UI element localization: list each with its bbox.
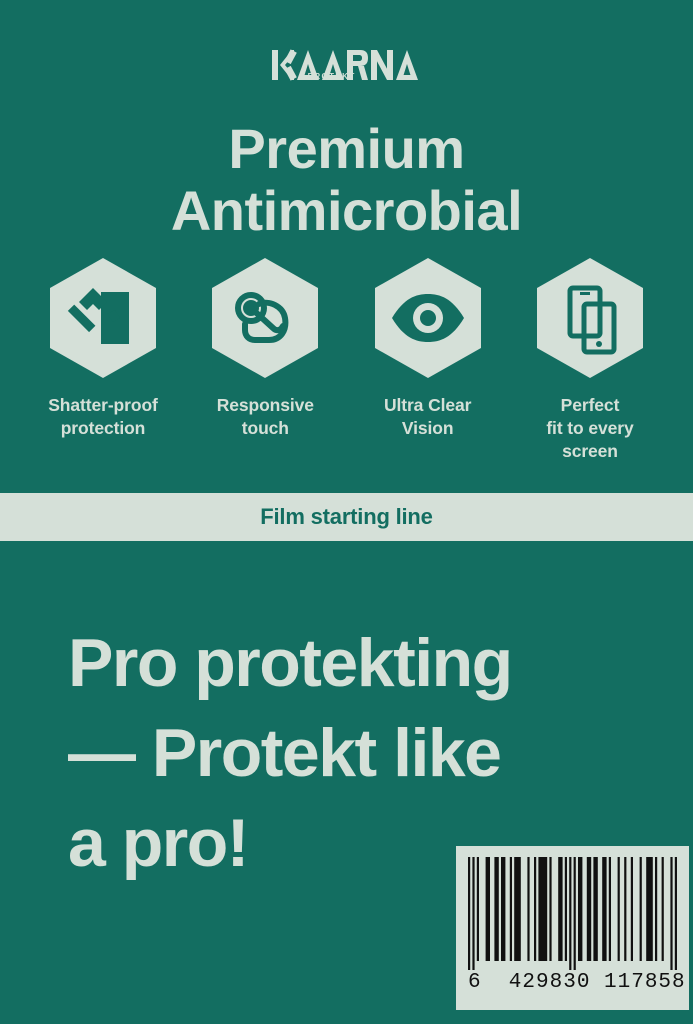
feature-item-ultra-clear-vision: Ultra Clear Vision: [353, 256, 503, 440]
brand-logo: PROTEKT: [0, 44, 693, 96]
film-starting-line-band: Film starting line: [0, 493, 693, 541]
feature-item-responsive-touch: Responsive touch: [190, 256, 340, 440]
feature-label-ultra-clear-vision: Ultra Clear Vision: [352, 394, 504, 440]
touch-hand-icon: [203, 256, 327, 380]
feature-label-line-2: fit to every: [546, 418, 633, 438]
hexagon-badge: [41, 256, 165, 380]
hexagon-badge: [203, 256, 327, 380]
feature-label-perfect-fit: Perfect fit to every screen: [514, 394, 666, 463]
kaarna-logo-mark: PROTEKT: [266, 46, 427, 94]
feature-label-line-3: screen: [562, 441, 618, 461]
feature-item-shatter-proof: Shatter-proof protection: [28, 256, 178, 440]
feature-label-line-1: Ultra Clear: [384, 395, 471, 415]
barcode-number: 6 429830 117858 >: [468, 971, 677, 994]
hammer-phone-icon: [41, 256, 165, 380]
eye-icon: [366, 256, 490, 380]
hexagon-badge: [366, 256, 490, 380]
heading-line-1: Premium: [0, 118, 693, 180]
feature-label-responsive-touch: Responsive touch: [189, 394, 341, 440]
tagline-line-2: — Protekt like: [68, 708, 648, 798]
barcode-block: 6 429830 117858 >: [456, 846, 689, 1010]
feature-label-line-1: Perfect: [561, 395, 620, 415]
feature-list: Shatter-proof protection: [28, 256, 665, 463]
logo-subtitle: PROTEKT: [308, 72, 356, 81]
feature-label-line-2: protection: [61, 418, 146, 438]
feature-label-line-2: touch: [242, 418, 289, 438]
tagline-line-1: Pro protekting: [68, 618, 648, 708]
page-title: Premium Antimicrobial: [0, 118, 693, 242]
feature-label-line-1: Shatter-proof: [48, 395, 158, 415]
barcode-bars: [468, 857, 677, 970]
film-starting-line-text: Film starting line: [260, 504, 432, 530]
two-phones-icon: [528, 256, 652, 380]
product-packaging-label: PROTEKT Premium Antimicrobial: [0, 0, 693, 1024]
feature-label-line-1: Responsive: [217, 395, 314, 415]
feature-label-line-2: Vision: [402, 418, 454, 438]
feature-label-shatter-proof: Shatter-proof protection: [27, 394, 179, 440]
feature-item-perfect-fit: Perfect fit to every screen: [515, 256, 665, 463]
hexagon-badge: [528, 256, 652, 380]
heading-line-2: Antimicrobial: [0, 180, 693, 242]
